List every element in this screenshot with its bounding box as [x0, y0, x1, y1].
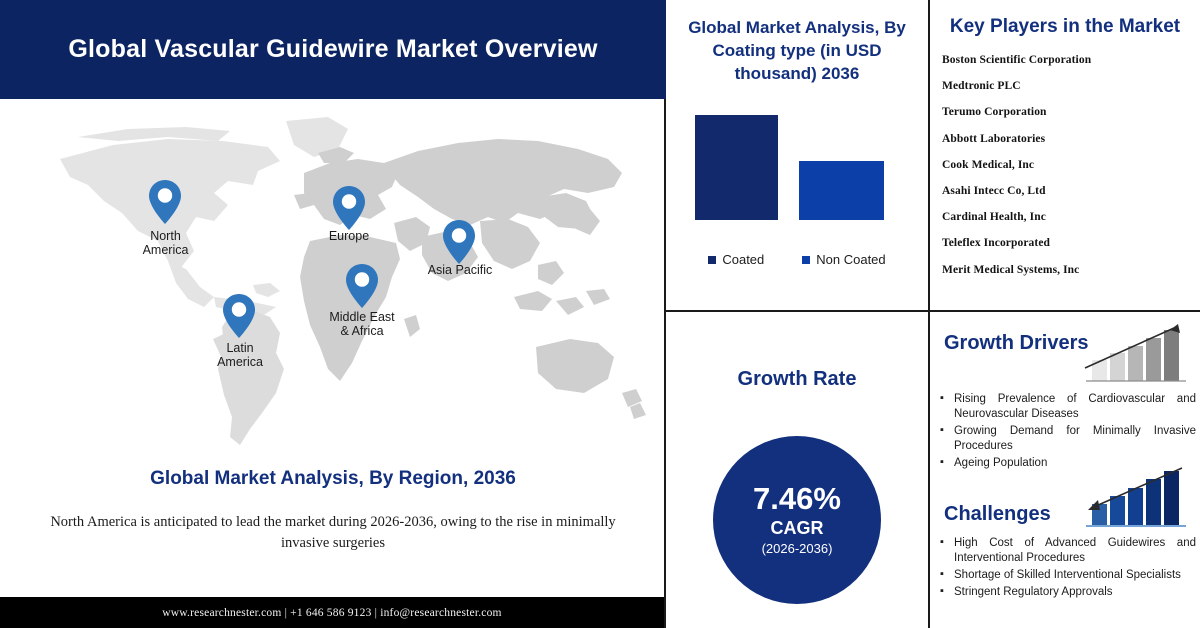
list-item: Medtronic PLC [942, 80, 1200, 92]
list-item: Stringent Regulatory Approvals [938, 585, 1196, 600]
legend-item-non-coated: Non Coated [802, 252, 885, 267]
pin-north-america-icon[interactable] [148, 179, 182, 225]
list-item: Asahi Intecc Co, Ltd [942, 185, 1200, 197]
cagr-value: 7.46% [753, 482, 841, 516]
pin-latin-america-icon[interactable] [222, 293, 256, 339]
list-item: Cook Medical, Inc [942, 159, 1200, 171]
left-panel: Global Vascular Guidewire Market Overvie… [0, 0, 666, 628]
list-item: High Cost of Advanced Guidewires and Int… [938, 536, 1196, 566]
pin-middle-east-africa-label: Middle East & Africa [314, 310, 410, 338]
list-item: Rising Prevalence of Cardiovascular and … [938, 392, 1196, 422]
challenges-trend-chart-icon [1082, 464, 1190, 530]
growth-drivers-title: Growth Drivers [944, 332, 1088, 355]
legend-label-coated: Coated [722, 252, 764, 267]
growth-drivers-list: Rising Prevalence of Cardiovascular and … [938, 392, 1196, 473]
cagr-metric-label: CAGR [771, 516, 824, 540]
coating-chart-legend: Coated Non Coated [666, 252, 928, 267]
list-item: Abbott Laboratories [942, 133, 1200, 145]
growth-rate-title: Growth Rate [666, 368, 928, 391]
infographic-page: Global Vascular Guidewire Market Overvie… [0, 0, 1200, 628]
challenges-list: High Cost of Advanced Guidewires and Int… [938, 536, 1196, 602]
key-players-list: Boston Scientific Corporation Medtronic … [930, 54, 1200, 276]
legend-swatch-coated [708, 256, 716, 264]
drivers-challenges-panel: Growth Drivers Rising Prevalence of Card… [930, 312, 1200, 628]
pin-europe-icon[interactable] [332, 185, 366, 231]
coating-type-chart-panel: Global Market Analysis, By Coating type … [666, 0, 930, 312]
region-analysis-title: Global Market Analysis, By Region, 2036 [0, 468, 666, 490]
challenges-title: Challenges [944, 503, 1051, 526]
pin-middle-east-africa-icon[interactable] [345, 263, 379, 309]
list-item: Boston Scientific Corporation [942, 54, 1200, 66]
list-item: Growing Demand for Minimally Invasive Pr… [938, 424, 1196, 454]
pin-asia-pacific-icon[interactable] [442, 219, 476, 265]
list-item: Shortage of Skilled Interventional Speci… [938, 568, 1196, 583]
legend-item-coated: Coated [708, 252, 764, 267]
list-item: Terumo Corporation [942, 106, 1200, 118]
key-players-title: Key Players in the Market [930, 16, 1200, 38]
pin-europe-label: Europe [303, 229, 395, 243]
cagr-circle: 7.46% CAGR (2026-2036) [713, 436, 881, 604]
legend-swatch-non-coated [802, 256, 810, 264]
list-item: Teleflex Incorporated [942, 237, 1200, 249]
region-analysis-note: North America is anticipated to lead the… [33, 512, 633, 554]
coating-chart-plot [666, 105, 928, 220]
footer-bar: www.researchnester.com | +1 646 586 9123… [0, 597, 664, 628]
header-band: Global Vascular Guidewire Market Overvie… [0, 0, 666, 99]
footer-contact-text: www.researchnester.com | +1 646 586 9123… [162, 607, 501, 619]
world-map-icon [18, 101, 658, 451]
coating-chart-title: Global Market Analysis, By Coating type … [680, 16, 914, 85]
pin-north-america-label: North America [118, 229, 213, 257]
page-title: Global Vascular Guidewire Market Overvie… [68, 35, 597, 64]
bar-coated [695, 115, 778, 220]
growth-rate-panel: Growth Rate 7.46% CAGR (2026-2036) [666, 312, 930, 628]
world-map-region: North America Europe Asia Pacific Middle… [0, 101, 666, 461]
key-players-panel: Key Players in the Market Boston Scienti… [930, 0, 1200, 312]
legend-label-non-coated: Non Coated [816, 252, 885, 267]
list-item: Merit Medical Systems, Inc [942, 264, 1200, 276]
pin-latin-america-label: Latin America [192, 341, 288, 369]
cagr-period: (2026-2036) [762, 540, 833, 558]
pin-asia-pacific-label: Asia Pacific [412, 263, 508, 277]
bar-non-coated [799, 161, 884, 220]
growth-drivers-trend-chart-icon [1082, 320, 1190, 386]
list-item: Cardinal Health, Inc [942, 211, 1200, 223]
